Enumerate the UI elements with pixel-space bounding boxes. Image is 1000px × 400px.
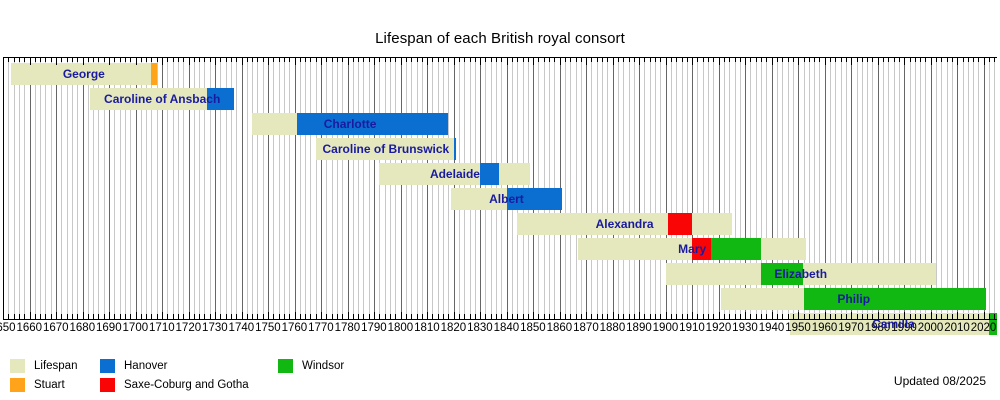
axis-tick-top [841, 57, 842, 62]
legend-swatch-icon [10, 359, 25, 373]
axis-tick-top [247, 57, 248, 62]
axis-tick-bottom [798, 312, 799, 320]
legend-item-stuart[interactable]: Stuart [10, 377, 65, 393]
axis-tick-bottom [56, 312, 57, 320]
axis-tick-bottom [846, 314, 847, 320]
axis-tick-top [517, 57, 518, 62]
axis-tick-bottom [602, 314, 603, 320]
axis-tick-bottom [226, 314, 227, 320]
axis-tick-top [480, 57, 481, 65]
axis-tick-label: 1950 [785, 322, 811, 334]
axis-tick-bottom [841, 314, 842, 320]
axis-tick-bottom [835, 314, 836, 320]
axis-tick-bottom [40, 314, 41, 320]
axis-tick-top [263, 57, 264, 62]
axis-tick-bottom [809, 314, 810, 320]
axis-tick-bottom [719, 312, 720, 320]
axis-tick-top [602, 57, 603, 62]
axis-tick-top [268, 57, 269, 65]
reign-segment-windsor[interactable] [761, 263, 803, 285]
axis-tick-bottom [655, 314, 656, 320]
axis-tick-bottom [45, 314, 46, 320]
axis-tick-top [162, 57, 163, 65]
axis-tick-top [586, 57, 587, 65]
axis-tick-top [544, 57, 545, 62]
axis-tick-bottom [332, 314, 333, 320]
legend-item-saxe-coburg-and-gotha[interactable]: Saxe-Coburg and Gotha [100, 377, 249, 393]
axis-tick-bottom [660, 314, 661, 320]
axis-tick-bottom [470, 314, 471, 320]
axis-tick-bottom [411, 314, 412, 320]
axis-tick-top [804, 57, 805, 62]
axis-tick-top [342, 57, 343, 62]
axis-tick-top [888, 57, 889, 62]
axis-tick-top [782, 57, 783, 62]
axis-tick-top [607, 57, 608, 62]
axis-tick-bottom [639, 312, 640, 320]
axis-tick-bottom [337, 314, 338, 320]
axis-tick-bottom [687, 314, 688, 320]
axis-tick-top [220, 57, 221, 62]
axis-tick-top [454, 57, 455, 65]
axis-tick-top [242, 57, 243, 65]
axis-tick-top [549, 57, 550, 62]
axis-tick-bottom [517, 314, 518, 320]
axis-tick-top [819, 57, 820, 62]
axis-tick-top [952, 57, 953, 62]
axis-tick-label: 1850 [520, 322, 546, 334]
axis-tick-bottom [189, 312, 190, 320]
axis-tick-top [279, 57, 280, 62]
reign-segment-windsor[interactable] [804, 288, 987, 310]
axis-tick-top [151, 57, 152, 62]
reign-segment-hanover[interactable] [454, 138, 457, 160]
axis-tick-bottom [263, 314, 264, 320]
axis-tick-top [878, 57, 879, 65]
reign-segment-hanover[interactable] [207, 88, 234, 110]
axis-tick-bottom [766, 314, 767, 320]
axis-tick-bottom [825, 312, 826, 320]
axis-tick-bottom [353, 314, 354, 320]
axis-tick-top [125, 57, 126, 62]
axis-tick-top [14, 57, 15, 62]
axis-tick-bottom [894, 314, 895, 320]
axis-tick-label: 1660 [17, 322, 43, 334]
axis-tick-bottom [194, 314, 195, 320]
axis-tick-top [655, 57, 656, 62]
axis-tick-bottom [19, 314, 20, 320]
axis-tick-bottom [925, 314, 926, 320]
axis-tick-top [904, 57, 905, 65]
axis-tick-top [851, 57, 852, 65]
axis-tick-top [963, 57, 964, 62]
axis-tick-top [77, 57, 78, 62]
axis-tick-bottom [968, 314, 969, 320]
plot-area: GeorgeCaroline of AnsbachCharlotteCaroli… [3, 57, 997, 319]
axis-tick-top [671, 57, 672, 62]
axis-tick-bottom [83, 312, 84, 320]
axis-tick-bottom [528, 314, 529, 320]
axis-tick-top [226, 57, 227, 62]
axis-tick-bottom [257, 314, 258, 320]
axis-tick-label: 1840 [494, 322, 520, 334]
axis-tick-bottom [363, 314, 364, 320]
axis-tick-label: 1890 [626, 322, 652, 334]
axis-tick-top [30, 57, 31, 65]
axis-tick-bottom [994, 314, 995, 320]
lifespan-bar[interactable] [316, 138, 456, 160]
axis-tick-top [570, 57, 571, 62]
axis-tick-bottom [819, 314, 820, 320]
axis-tick-label: 1790 [361, 322, 387, 334]
axis-tick-label: 1870 [573, 322, 599, 334]
axis-tick-label: 1650 [0, 322, 16, 334]
axis-tick-label: 1730 [202, 322, 228, 334]
axis-tick-top [660, 57, 661, 62]
axis-tick-bottom [242, 312, 243, 320]
axis-tick-bottom [252, 314, 253, 320]
axis-tick-top [910, 57, 911, 62]
axis-tick-top [19, 57, 20, 62]
axis-tick-label: 1720 [176, 322, 202, 334]
axis-tick-top [623, 57, 624, 62]
lifespan-bar[interactable] [379, 163, 530, 185]
axis-tick-top [385, 57, 386, 62]
axis-tick-top [745, 57, 746, 65]
axis-tick-bottom [284, 314, 285, 320]
axis-tick-top [411, 57, 412, 62]
axis-tick-label: 2020 [971, 322, 997, 334]
axis-tick-bottom [936, 314, 937, 320]
axis-tick-bottom [957, 312, 958, 320]
axis-tick-bottom [740, 314, 741, 320]
axis-tick-bottom [963, 314, 964, 320]
axis-tick-bottom [162, 312, 163, 320]
axis-tick-bottom [8, 314, 9, 320]
axis-tick-bottom [427, 312, 428, 320]
axis-tick-top [936, 57, 937, 62]
reign-segment-hanover[interactable] [297, 113, 448, 135]
axis-tick-top [183, 57, 184, 62]
axis-tick-bottom [358, 314, 359, 320]
axis-tick-top [644, 57, 645, 62]
axis-tick-bottom [385, 314, 386, 320]
axis-tick-top [56, 57, 57, 65]
axis-tick-bottom [697, 314, 698, 320]
axis-tick-top [136, 57, 137, 65]
axis-tick-top [422, 57, 423, 62]
axis-tick-bottom [14, 314, 15, 320]
axis-tick-top [300, 57, 301, 62]
axis-tick-top [326, 57, 327, 62]
axis-tick-bottom [830, 314, 831, 320]
timeline-row: Elizabeth [3, 263, 997, 285]
axis-tick-top [443, 57, 444, 62]
axis-tick-top [173, 57, 174, 62]
axis-tick-top [45, 57, 46, 62]
axis-tick-bottom [109, 312, 110, 320]
axis-tick-label: 2010 [944, 322, 970, 334]
axis-tick-top [772, 57, 773, 65]
axis-tick-bottom [814, 314, 815, 320]
axis-tick-bottom [51, 314, 52, 320]
axis-tick-bottom [804, 314, 805, 320]
axis-tick-top [554, 57, 555, 62]
axis-tick-top [204, 57, 205, 62]
chart-legend: LifespanStuartHanoverSaxe-Coburg and Got… [0, 358, 1000, 398]
axis-tick-bottom [501, 314, 502, 320]
axis-tick-label: 1910 [679, 322, 705, 334]
axis-tick-label: 1780 [335, 322, 361, 334]
axis-tick-label: 1710 [149, 322, 175, 334]
axis-tick-top [825, 57, 826, 65]
axis-tick-top [676, 57, 677, 62]
axis-tick-bottom [910, 314, 911, 320]
axis-tick-bottom [724, 314, 725, 320]
axis-tick-bottom [491, 314, 492, 320]
axis-tick-top [925, 57, 926, 62]
axis-tick-top [35, 57, 36, 62]
axis-tick-bottom [735, 314, 736, 320]
axis-tick-bottom [984, 312, 985, 320]
axis-tick-top [24, 57, 25, 62]
axis-tick-top [501, 57, 502, 62]
axis-tick-top [915, 57, 916, 62]
axis-tick-bottom [915, 314, 916, 320]
axis-tick-bottom [316, 314, 317, 320]
axis-tick-bottom [565, 314, 566, 320]
axis-tick-bottom [406, 314, 407, 320]
axis-tick-bottom [931, 312, 932, 320]
timeline-row: Caroline of Brunswick [3, 138, 997, 160]
axis-tick-top [761, 57, 762, 62]
timeline-row: Charlotte [3, 113, 997, 135]
axis-tick-bottom [618, 314, 619, 320]
legend-item-hanover[interactable]: Hanover [100, 358, 167, 374]
axis-tick-top [485, 57, 486, 62]
axis-tick-top [417, 57, 418, 62]
axis-tick-bottom [682, 314, 683, 320]
axis-tick-bottom [560, 312, 561, 320]
axis-tick-label: 1920 [706, 322, 732, 334]
axis-tick-bottom [247, 314, 248, 320]
axis-tick-bottom [422, 314, 423, 320]
axis-tick-top [194, 57, 195, 62]
axis-tick-top [316, 57, 317, 62]
axis-tick-top [581, 57, 582, 62]
legend-swatch-icon [278, 359, 293, 373]
axis-tick-bottom [634, 314, 635, 320]
axis-tick-bottom [586, 312, 587, 320]
timeline-row: Alexandra [3, 213, 997, 235]
axis-tick-top [740, 57, 741, 62]
axis-tick-top [337, 57, 338, 62]
axis-tick-bottom [952, 314, 953, 320]
axis-tick-top [120, 57, 121, 62]
legend-item-windsor[interactable]: Windsor [278, 358, 344, 374]
axis-tick-top [448, 57, 449, 62]
reign-segment-hanover[interactable] [507, 188, 563, 210]
axis-tick-top [67, 57, 68, 62]
axis-tick-top [989, 57, 990, 62]
axis-tick-label: 1700 [123, 322, 149, 334]
axis-tick-bottom [459, 314, 460, 320]
axis-tick-bottom [782, 314, 783, 320]
axis-tick-bottom [167, 314, 168, 320]
axis-tick-bottom [300, 314, 301, 320]
axis-tick-bottom [443, 314, 444, 320]
axis-tick-bottom [644, 314, 645, 320]
axis-tick-top [507, 57, 508, 65]
reign-segment-stuart[interactable] [151, 63, 156, 85]
axis-tick-bottom [713, 314, 714, 320]
axis-tick-bottom [104, 314, 105, 320]
axis-tick-top [756, 57, 757, 62]
axis-tick-top [401, 57, 402, 65]
axis-tick-bottom [745, 312, 746, 320]
axis-tick-bottom [756, 314, 757, 320]
legend-item-lifespan[interactable]: Lifespan [10, 358, 77, 374]
reign-segment-saxe-coburg-and-gotha[interactable] [668, 213, 692, 235]
axis-tick-top [141, 57, 142, 62]
axis-tick-top [538, 57, 539, 62]
legend-swatch-icon [100, 378, 115, 392]
axis-tick-bottom [279, 314, 280, 320]
axis-tick-bottom [591, 314, 592, 320]
axis-tick-top [157, 57, 158, 62]
timeline-row: Mary [3, 238, 997, 260]
axis-tick-bottom [454, 312, 455, 320]
axis-tick-label: 1830 [467, 322, 493, 334]
axis-tick-top [994, 57, 995, 62]
axis-tick-bottom [210, 314, 211, 320]
axis-tick-bottom [570, 314, 571, 320]
axis-tick-top [98, 57, 99, 62]
axis-tick-top [40, 57, 41, 62]
axis-tick-bottom [295, 312, 296, 320]
axis-tick-bottom [151, 314, 152, 320]
axis-tick-bottom [613, 312, 614, 320]
lifespan-bar[interactable] [517, 213, 732, 235]
axis-tick-top [968, 57, 969, 62]
axis-tick-label: 1670 [43, 322, 69, 334]
axis-tick-top [639, 57, 640, 65]
axis-tick-top [528, 57, 529, 62]
axis-tick-bottom [93, 314, 94, 320]
axis-tick-bottom [342, 314, 343, 320]
axis-tick-bottom [480, 312, 481, 320]
reign-segment-hanover[interactable] [480, 163, 499, 185]
reign-segment-windsor[interactable] [711, 238, 761, 260]
axis-tick-top [533, 57, 534, 65]
axis-tick-bottom [581, 314, 582, 320]
axis-tick-top [72, 57, 73, 62]
axis-tick-top [273, 57, 274, 62]
axis-tick-top [957, 57, 958, 65]
reign-segment-saxe-coburg-and-gotha[interactable] [692, 238, 711, 260]
axis-tick-top [284, 57, 285, 62]
timeline-row: George [3, 63, 997, 85]
axis-tick-top [692, 57, 693, 65]
axis-tick-bottom [178, 314, 179, 320]
axis-tick-top [432, 57, 433, 62]
axis-tick-bottom [872, 314, 873, 320]
axis-tick-top [109, 57, 110, 65]
axis-tick-bottom [183, 314, 184, 320]
axis-tick-label: 1810 [414, 322, 440, 334]
axis-tick-label: 1760 [282, 322, 308, 334]
axis-tick-bottom [24, 314, 25, 320]
axis-tick-top [830, 57, 831, 62]
axis-tick-top [634, 57, 635, 62]
axis-tick-bottom [369, 314, 370, 320]
axis-tick-bottom [464, 314, 465, 320]
axis-tick-label: 1770 [308, 322, 334, 334]
axis-tick-top [597, 57, 598, 62]
axis-tick-bottom [507, 312, 508, 320]
axis-tick-top [750, 57, 751, 62]
axis-tick-top [51, 57, 52, 62]
axis-tick-bottom [920, 314, 921, 320]
axis-tick-bottom [348, 312, 349, 320]
axis-tick-top [862, 57, 863, 62]
axis-tick-bottom [35, 314, 36, 320]
axis-tick-bottom [533, 312, 534, 320]
axis-tick-bottom [666, 312, 667, 320]
axis-tick-top [697, 57, 698, 62]
axis-tick-top [438, 57, 439, 62]
axis-tick-bottom [867, 314, 868, 320]
axis-tick-bottom [878, 312, 879, 320]
legend-label: Stuart [34, 379, 65, 391]
axis-tick-top [576, 57, 577, 62]
updated-note: Updated 08/2025 [894, 374, 986, 388]
axis-tick-top [464, 57, 465, 62]
axis-tick-top [793, 57, 794, 62]
axis-tick-bottom [629, 314, 630, 320]
axis-tick-bottom [30, 312, 31, 320]
axis-tick-bottom [236, 314, 237, 320]
axis-tick-top [941, 57, 942, 62]
legend-label: Windsor [302, 360, 344, 372]
axis-tick-top [613, 57, 614, 65]
axis-tick-top [719, 57, 720, 65]
axis-tick-top [708, 57, 709, 62]
axis-tick-bottom [708, 314, 709, 320]
axis-tick-bottom [692, 312, 693, 320]
axis-tick-top [883, 57, 884, 62]
axis-tick-bottom [475, 314, 476, 320]
axis-tick-label: 1960 [812, 322, 838, 334]
axis-tick-top [321, 57, 322, 65]
axis-tick-top [395, 57, 396, 62]
lifespan-bar[interactable] [11, 63, 157, 85]
axis-tick-bottom [862, 314, 863, 320]
axis-tick-top [629, 57, 630, 62]
timeline-chart: Lifespan of each British royal consort G… [0, 0, 1000, 400]
axis-tick-bottom [941, 314, 942, 320]
axis-tick-top [788, 57, 789, 62]
axis-tick-bottom [3, 312, 4, 320]
axis-tick-top [703, 57, 704, 62]
axis-tick-bottom [793, 314, 794, 320]
axis-tick-top [167, 57, 168, 62]
axis-tick-bottom [141, 314, 142, 320]
axis-tick-top [189, 57, 190, 65]
axis-tick-bottom [904, 312, 905, 320]
axis-tick-top [973, 57, 974, 62]
axis-tick-top [857, 57, 858, 62]
